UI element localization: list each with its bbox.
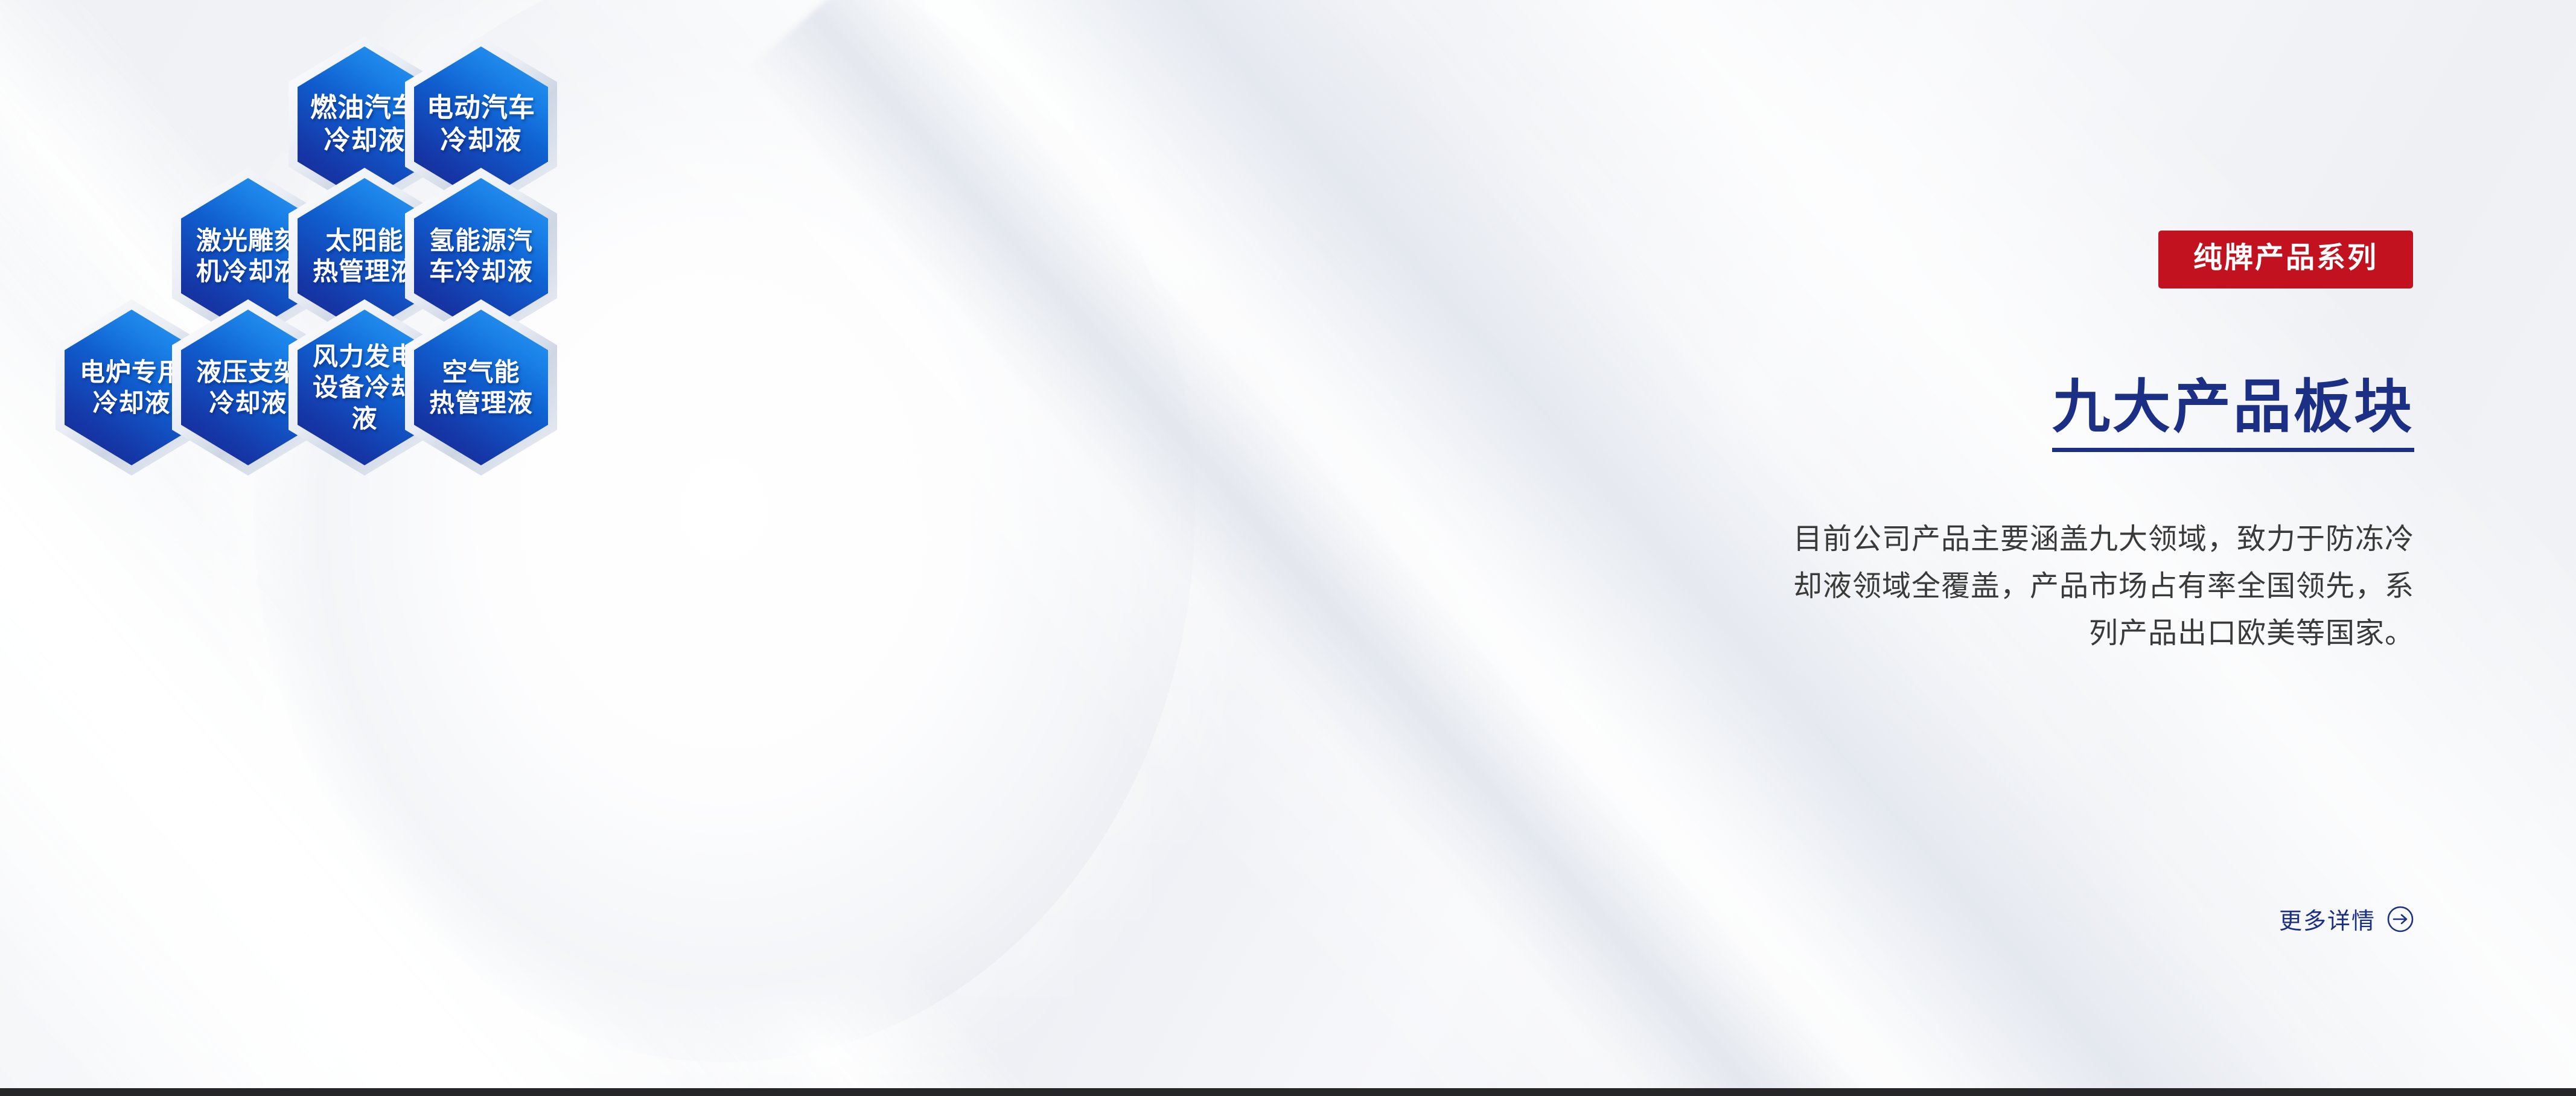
series-badge: 纯牌产品系列: [2158, 231, 2413, 288]
page-title: 九大产品板块: [2052, 377, 2414, 438]
title-underline: [2052, 448, 2414, 452]
hex-label: 氢能源汽 车冷却液: [426, 225, 537, 287]
description-text: 目前公司产品主要涵盖九大领域，致力于防冻冷却液领域全覆盖，产品市场占有率全国领先…: [1774, 516, 2414, 657]
info-panel: 纯牌产品系列 九大产品板块 目前公司产品主要涵盖九大领域，致力于防冻冷却液领域全…: [1491, 0, 2576, 1096]
circle-arrow-right-icon: [2386, 905, 2414, 933]
hex-label: 电炉专用 冷却液: [76, 357, 187, 418]
hex-label: 电动汽车 冷却液: [423, 92, 539, 156]
product-hex-tile[interactable]: 空气能 热管理液: [405, 299, 557, 476]
hex-label: 太阳能 热管理液: [309, 225, 420, 287]
product-hexagon-grid: 燃油汽车 冷却液 电动汽车 冷却液 激光雕刻 机冷却液 太阳能 热管理液 氢: [0, 0, 1449, 1096]
product-banner: 燃油汽车 冷却液 电动汽车 冷却液 激光雕刻 机冷却液 太阳能 热管理液 氢: [0, 0, 2576, 1096]
more-details-label: 更多详情: [2279, 902, 2376, 935]
page-title-block: 九大产品板块: [2052, 377, 2414, 452]
hex-label: 液压支架 冷却液: [193, 357, 304, 418]
hex-label: 激光雕刻 机冷却液: [193, 225, 304, 287]
bottom-strip: [0, 1088, 2576, 1096]
hex-label: 空气能 热管理液: [426, 357, 537, 418]
more-details-link[interactable]: 更多详情: [2279, 902, 2414, 935]
